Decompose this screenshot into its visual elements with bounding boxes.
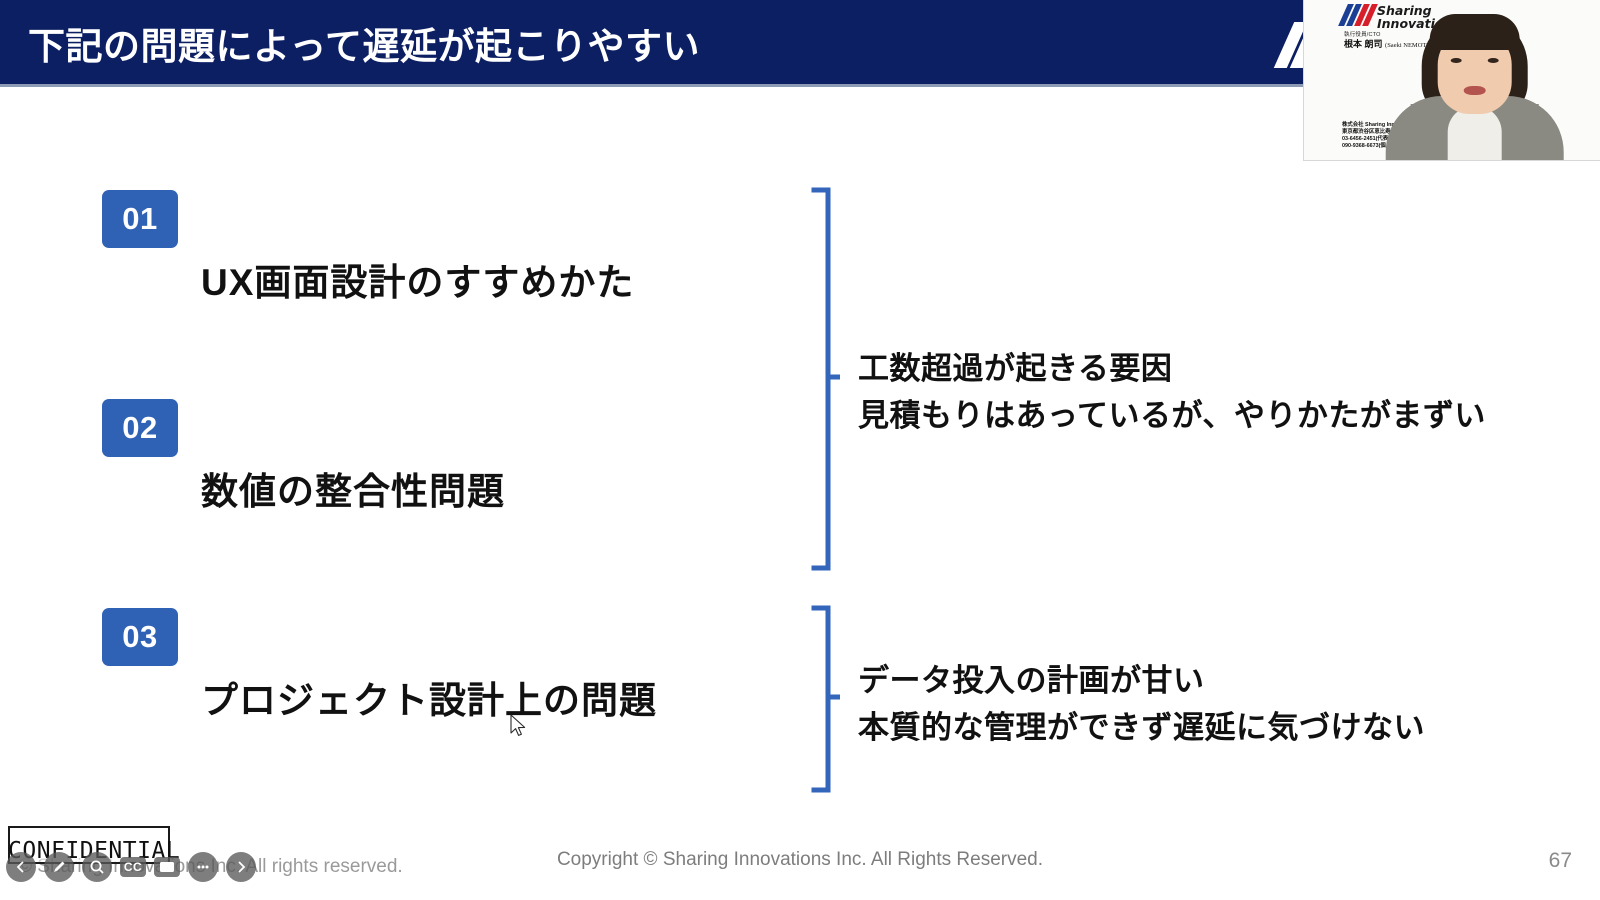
- agenda-number-badge-02: 02: [102, 399, 178, 457]
- previous-slide-button[interactable]: [6, 852, 36, 882]
- agenda-number-badge-03: 03: [102, 608, 178, 666]
- slide-body: 01 UX画面設計のすすめかた 02 数値の整合性問題 03 プロジェクト設計上…: [0, 87, 1600, 817]
- more-options-icon[interactable]: [188, 852, 218, 882]
- mouse-cursor: [510, 714, 528, 740]
- agenda-title-01: UX画面設計のすすめかた: [201, 252, 634, 306]
- presentation-slide-viewer: 下記の問題によって遅延が起こりやすい Sh Sharing Innovation…: [0, 0, 1600, 900]
- presentation-player-toolbar[interactable]: CC: [6, 852, 256, 882]
- annotation-group-1: 工数超過が起きる要因 見積もりはあっているが、やりかたがまずい: [858, 345, 1486, 439]
- closed-captions-icon[interactable]: CC: [120, 857, 146, 877]
- annotation-2-line-1: データ投入の計画が甘い: [858, 657, 1425, 704]
- grouping-bracket-1: [806, 186, 840, 572]
- grouping-bracket-2: [806, 604, 840, 794]
- page-number: 67: [1549, 849, 1572, 873]
- annotation-1-line-1: 工数超過が起きる要因: [858, 345, 1486, 392]
- presenter-eye-left: [1451, 58, 1462, 63]
- pen-tool-icon[interactable]: [44, 852, 74, 882]
- agenda-title-03: プロジェクト設計上の問題: [201, 670, 657, 724]
- agenda-item-01: 01 UX画面設計のすすめかた: [102, 190, 178, 248]
- agenda-item-03: 03 プロジェクト設計上の問題: [102, 608, 178, 666]
- zoom-magnifier-icon[interactable]: [82, 852, 112, 882]
- next-slide-button[interactable]: [226, 852, 256, 882]
- annotation-1-line-2: 見積もりはあっているが、やりかたがまずい: [858, 392, 1486, 439]
- presenter-fringe: [1430, 14, 1520, 50]
- agenda-number-badge-01: 01: [102, 190, 178, 248]
- agenda-title-02: 数値の整合性問題: [201, 461, 505, 515]
- agenda-item-02: 02 数値の整合性問題: [102, 399, 178, 457]
- annotation-group-2: データ投入の計画が甘い 本質的な管理ができず遅延に気づけない: [858, 657, 1425, 751]
- slide-thumbnails-icon[interactable]: [154, 857, 180, 877]
- presenter-eye-right: [1488, 58, 1499, 63]
- slide-title: 下記の問題によって遅延が起こりやすい: [28, 16, 700, 70]
- annotation-2-line-2: 本質的な管理ができず遅延に気づけない: [858, 704, 1425, 751]
